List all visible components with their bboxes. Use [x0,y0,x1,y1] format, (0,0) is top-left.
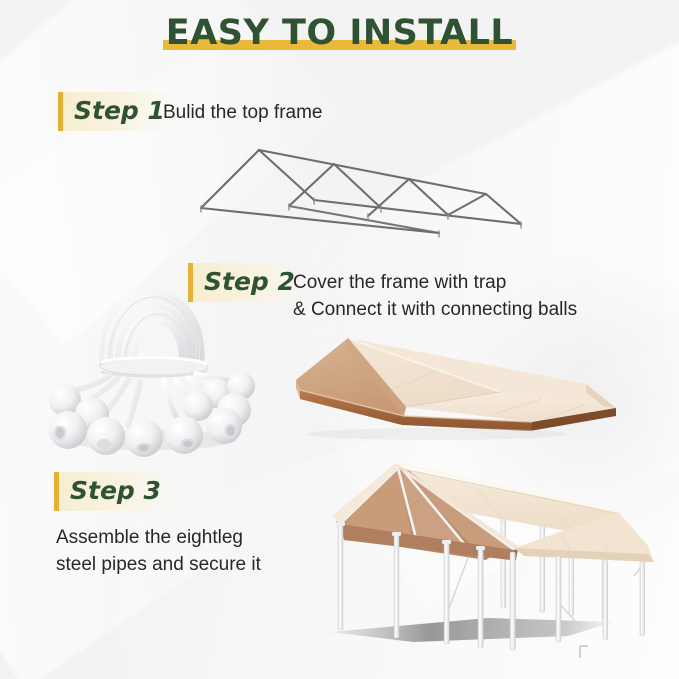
tarp-cover-icon [286,330,616,440]
roof-frame-icon [196,136,526,244]
page-title: EASY TO INSTALL [166,13,513,53]
page-title-wrap: EASY TO INSTALL [0,12,679,56]
page-title-inner: EASY TO INSTALL [160,12,519,56]
carport-canopy-icon [318,450,668,665]
step-3-description: Assemble the eightleg steel pipes and se… [56,525,261,579]
infographic-page: EASY TO INSTALL Step 1 Bulid the top fra… [0,0,679,679]
step-1-description: Bulid the top frame [163,100,322,127]
bungee-ball-bundle-icon [38,288,268,453]
step-2-description: Cover the frame with trap & Connect it w… [293,270,577,324]
step-3-badge: Step 3 [54,472,177,511]
